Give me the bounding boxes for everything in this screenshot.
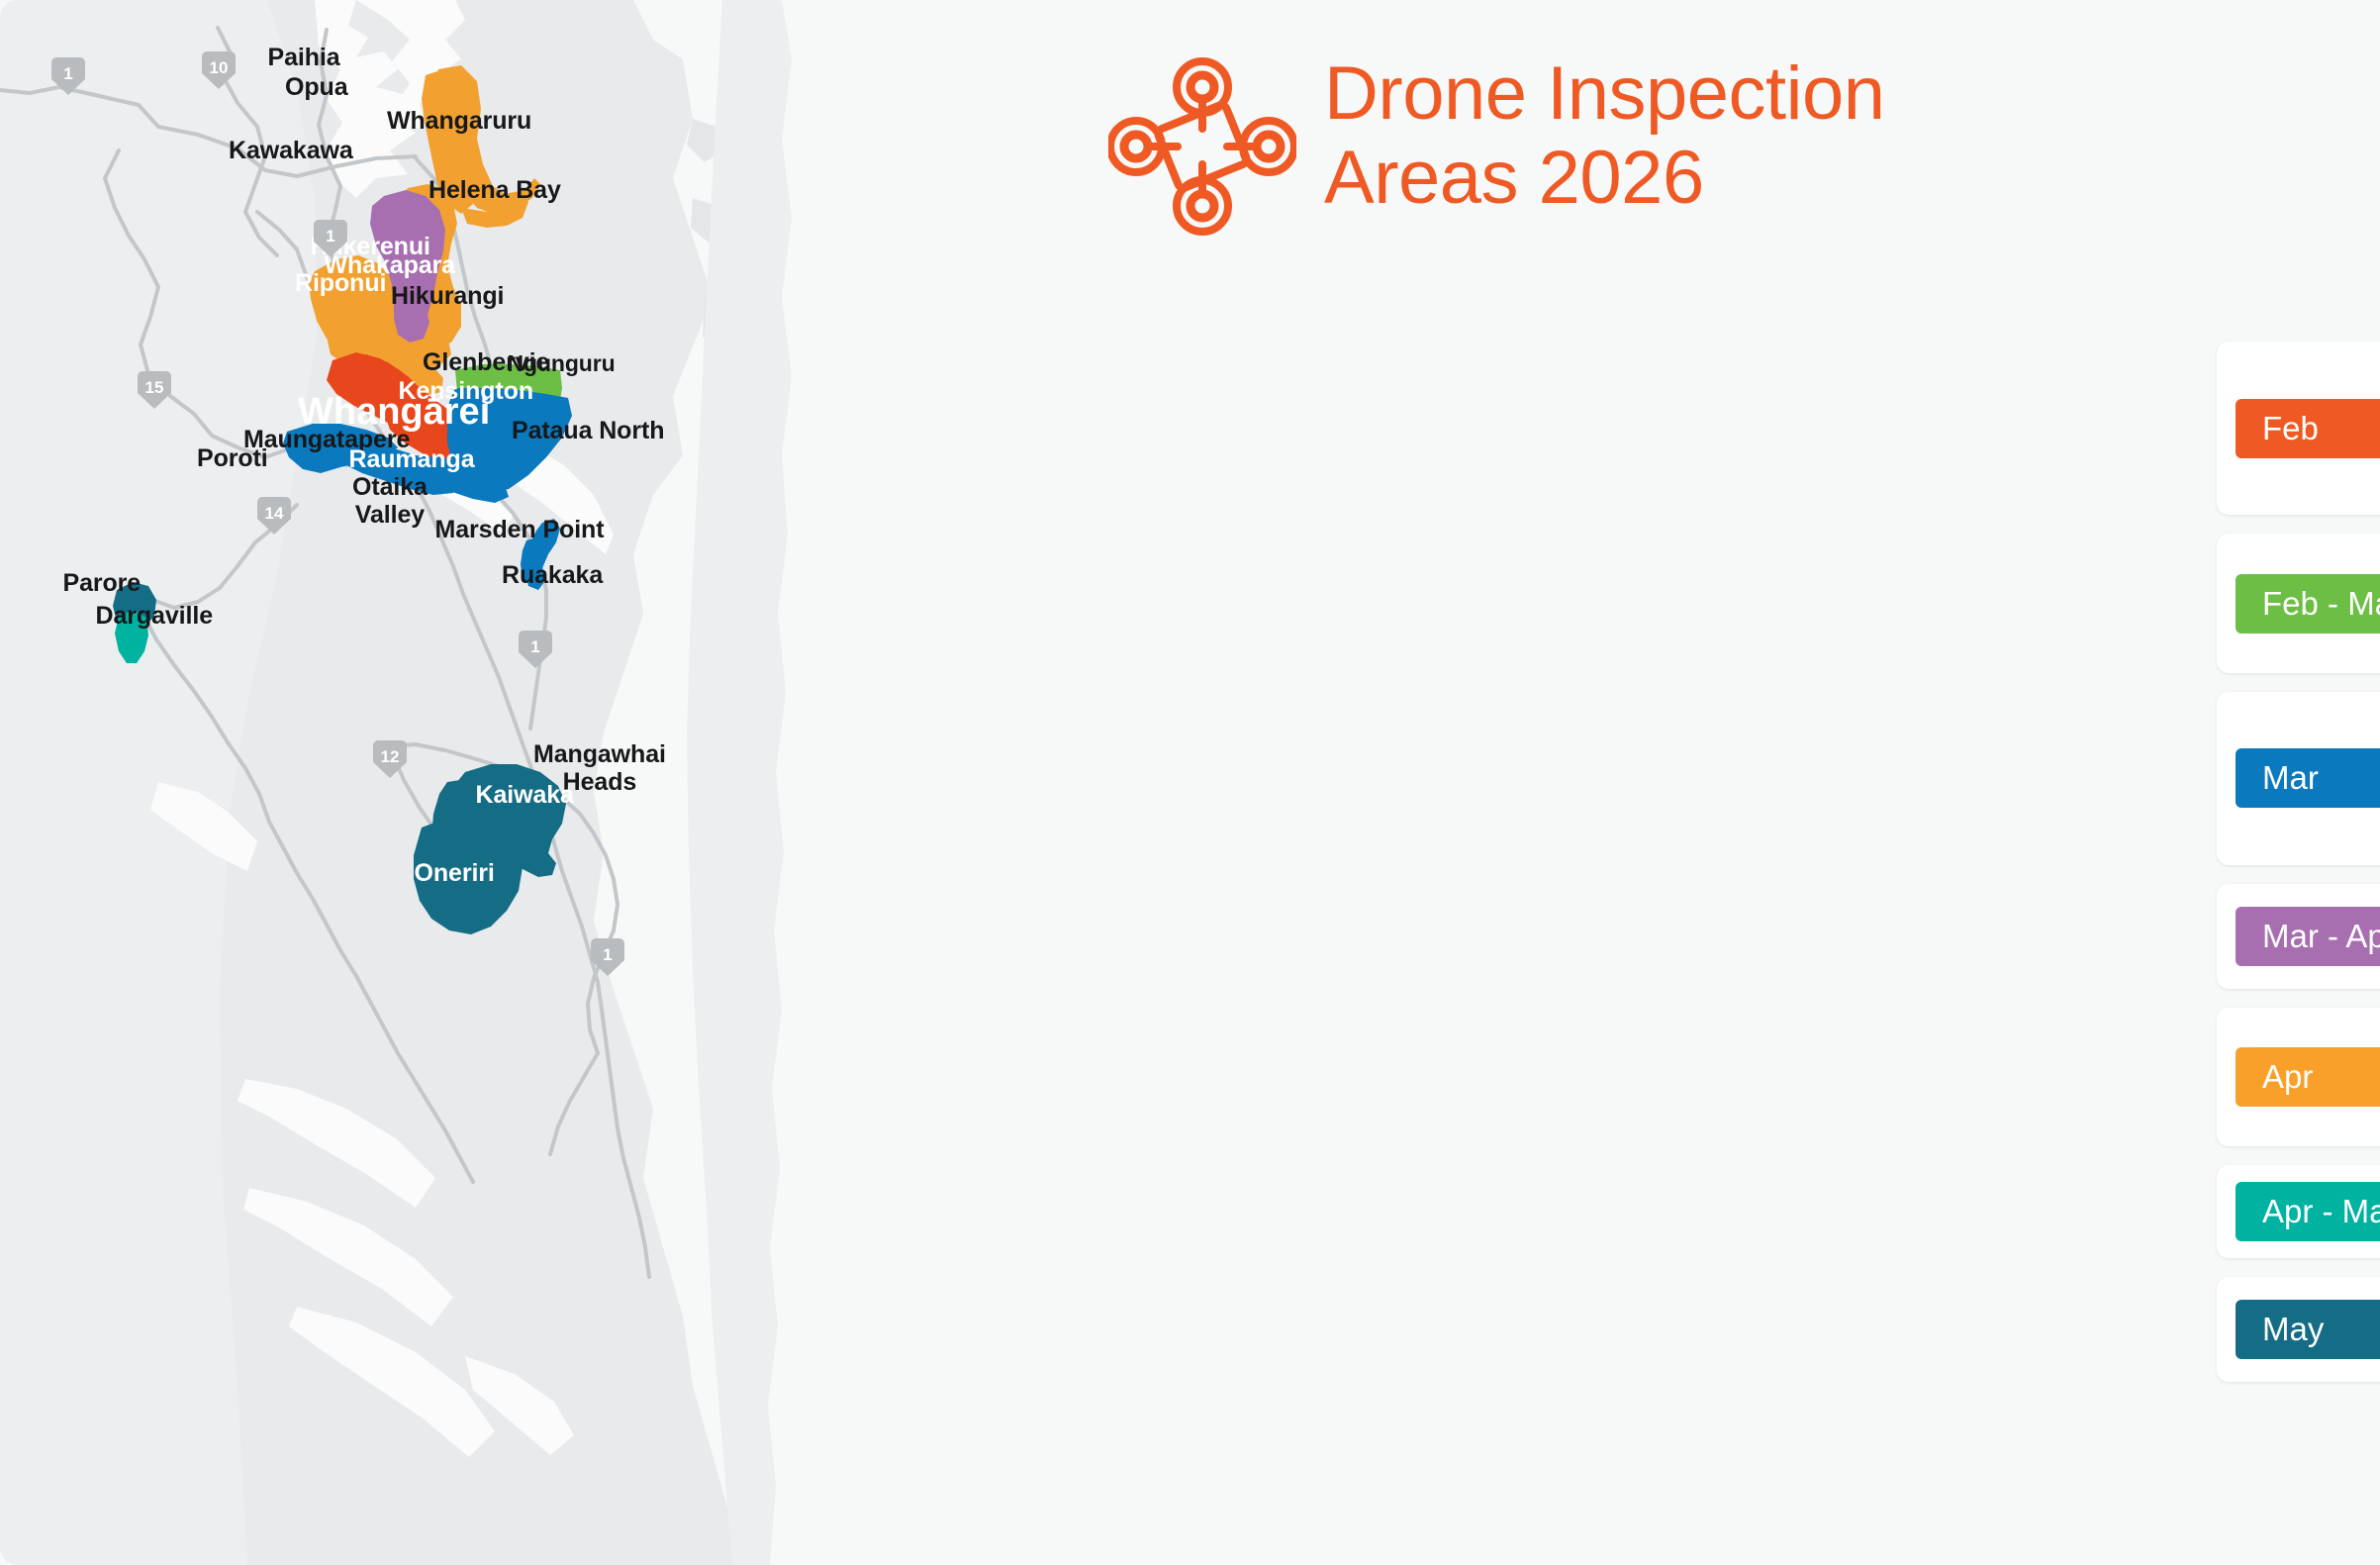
- legend-row-mar-apr[interactable]: Mar - Apr • From Hikurangi to Hukerenui,…: [2217, 884, 2380, 989]
- map-label-riponui: Riponui: [295, 269, 386, 297]
- map-label-helena-bay: Helena Bay: [428, 176, 561, 204]
- legend-row-mar[interactable]: Mar • Riverside, Onerahi, along Awaroa R…: [2217, 692, 2380, 865]
- legend-row-feb-mar[interactable]: Feb - Mar • From Tikipunga to Glenbervie…: [2217, 534, 2380, 672]
- legend-badge-may: May: [2236, 1300, 2380, 1359]
- map-label-raumanga: Raumanga: [349, 445, 475, 473]
- content-pane: Drone Inspection Areas 2026 Feb • From T…: [1094, 0, 2380, 1565]
- map-label-pataua-north: Pataua North: [512, 417, 664, 444]
- map-label-poroti: Poroti: [197, 444, 268, 472]
- legend-badge-apr-may: Apr - May: [2236, 1182, 2380, 1241]
- map-label-otaika-valley: Otaika Valley: [352, 473, 428, 529]
- map-label-parore: Parore: [63, 569, 142, 597]
- infographic-root: Paihia Opua Kawakawa Whangaruru Helena B…: [0, 0, 2380, 1565]
- map-label-ngunguru: Ngunguru: [508, 351, 616, 377]
- map-label-hikurangi: Hikurangi: [391, 282, 504, 310]
- drone-quadcopter-icon: [1108, 57, 1296, 241]
- page-title: Drone Inspection Areas 2026: [1324, 51, 1885, 220]
- map-label-whangaruru: Whangaruru: [387, 107, 531, 135]
- map-label-ruakaka: Ruakaka: [502, 561, 603, 589]
- legend-badge-feb-mar: Feb - Mar: [2236, 574, 2380, 634]
- map-pane[interactable]: Paihia Opua Kawakawa Whangaruru Helena B…: [0, 0, 1094, 1565]
- legend-badge-mar: Mar: [2236, 748, 2380, 808]
- map-label-whangarei-city: Whangārei: [298, 391, 490, 434]
- legend-badge-apr: Apr: [2236, 1047, 2380, 1107]
- map-label-paihia: Paihia: [268, 44, 340, 71]
- legend-list: Feb • From The Regent through Mairtown a…: [2217, 342, 2380, 1401]
- map-label-marsden-point: Marsden Point: [435, 516, 605, 543]
- legend-badge-feb: Feb: [2236, 399, 2380, 458]
- map-label-opua: Opua: [285, 73, 348, 101]
- map-label-kaiwaka: Kaiwaka: [476, 781, 574, 809]
- header: Drone Inspection Areas 2026: [1108, 51, 1885, 241]
- legend-row-feb[interactable]: Feb • From The Regent through Mairtown a…: [2217, 342, 2380, 515]
- legend-row-may[interactable]: May • Dargaville township north of State…: [2217, 1277, 2380, 1382]
- legend-row-apr-may[interactable]: Apr - May • Dargaville township to Manga…: [2217, 1165, 2380, 1258]
- map-label-kawakawa: Kawakawa: [229, 137, 353, 164]
- map-label-oneriri: Oneriri: [415, 859, 495, 887]
- legend-badge-mar-apr: Mar - Apr: [2236, 907, 2380, 966]
- map-label-dargaville: Dargaville: [96, 602, 214, 630]
- legend-row-apr[interactable]: Apr • Vinegar Hill, Kauri and Hikurangi,…: [2217, 1008, 2380, 1146]
